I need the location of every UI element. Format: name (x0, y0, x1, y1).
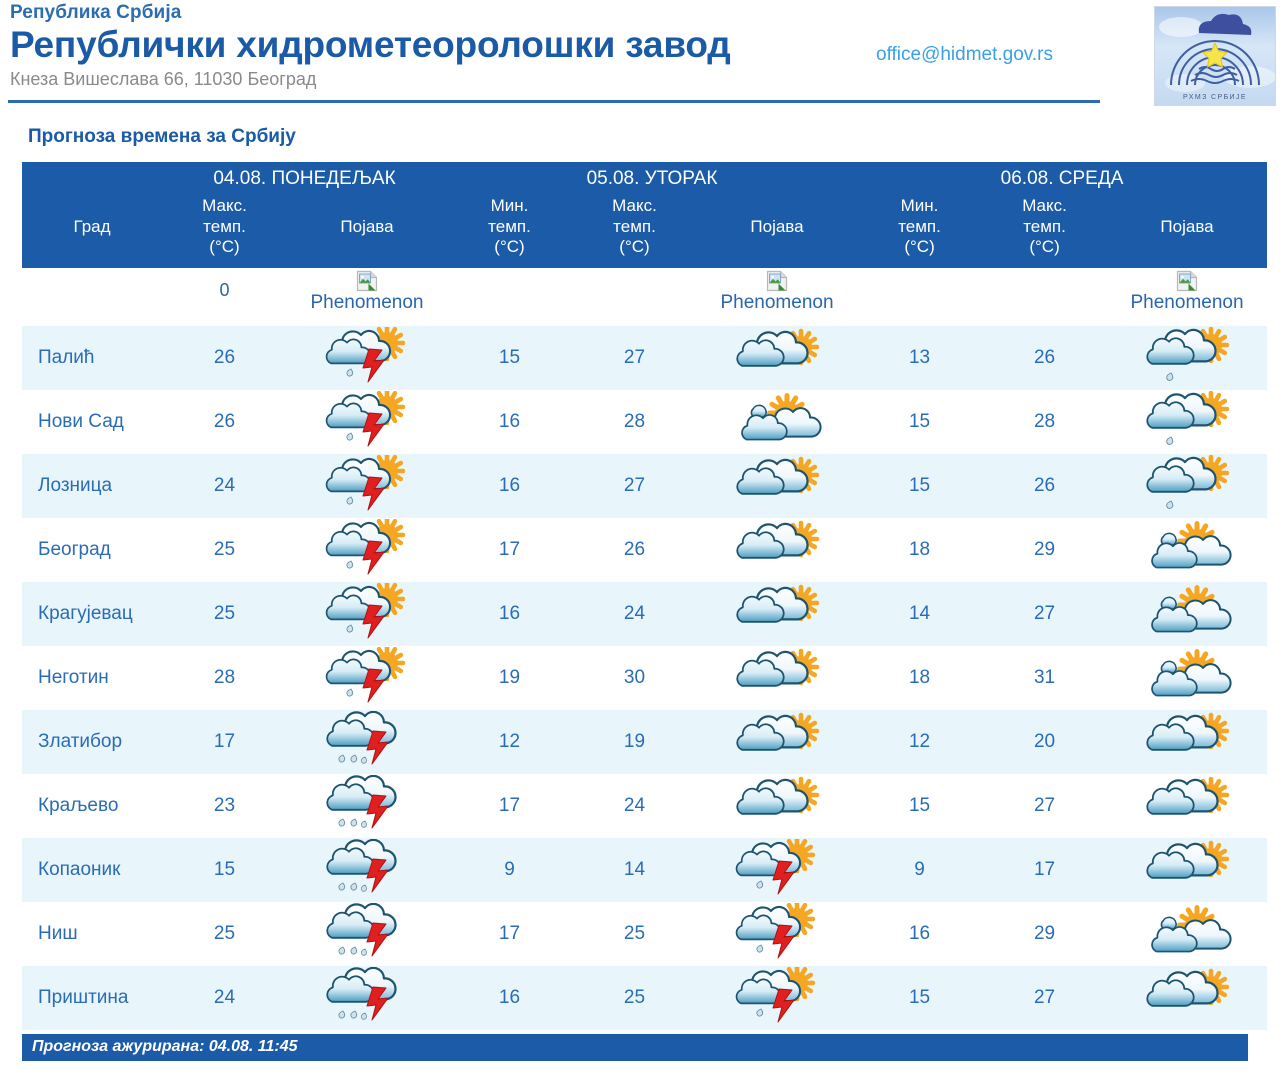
wed-min-temp: 9 (857, 838, 982, 902)
mon-weather-icon-storm-rain (287, 838, 447, 902)
city-name: Палић (22, 326, 162, 390)
city-name: Лозница (22, 454, 162, 518)
wed-min-temp: 14 (857, 582, 982, 646)
table-row: Нови Сад26 1628 1528 (22, 390, 1267, 454)
zero-value: 0 (162, 268, 287, 301)
wed-max-temp: 31 (982, 646, 1107, 710)
wed-min-temp: 12 (857, 710, 982, 774)
masthead: Република Србија Републички хидрометеоро… (0, 0, 1288, 112)
day-header-tuesday: 05.08. УТОРАК (447, 162, 857, 192)
city-name: Краљево (22, 774, 162, 838)
day-header-row: 04.08. ПОНЕДЕЉАК 05.08. УТОРАК 06.08. СР… (22, 162, 1267, 192)
mon-max-temp: 23 (162, 774, 287, 838)
tue-min-temp: 12 (447, 710, 572, 774)
tue-max-temp: 24 (572, 582, 697, 646)
city-name: Златибор (22, 710, 162, 774)
mon-weather-icon-storm-rain (287, 774, 447, 838)
tue-min-temp: 17 (447, 902, 572, 966)
country-name: Република Србија (10, 2, 731, 24)
tue-min-temp: 17 (447, 774, 572, 838)
mon-max-temp: 26 (162, 390, 287, 454)
tue-min-temp: 9 (447, 838, 572, 902)
table-row: Приштина24 1625 1527 (22, 966, 1267, 1030)
wed-max-temp: 20 (982, 710, 1107, 774)
table-row: Златибор17 1219 1220 (22, 710, 1267, 774)
wed-weather-icon-partly-cloudy (1107, 838, 1267, 902)
table-row: Ниш25 1725 1629 (22, 902, 1267, 966)
wed-max-temp: 27 (982, 966, 1107, 1030)
city-name: Приштина (22, 966, 162, 1030)
city-name: Нови Сад (22, 390, 162, 454)
wed-weather-icon-light-rain-sun (1107, 390, 1267, 454)
org-identity: Република Србија Републички хидрометеоро… (10, 2, 731, 90)
tue-weather-icon-storm-sun (697, 966, 857, 1030)
column-header-tue-min: Мин. темп. (°C) (447, 192, 572, 268)
wed-weather-icon-light-rain-sun (1107, 326, 1267, 390)
tue-weather-icon-partly-cloudy (697, 582, 857, 646)
broken-image-icon (356, 270, 378, 292)
wed-min-temp: 15 (857, 390, 982, 454)
city-name: Копаоник (22, 838, 162, 902)
legend-phenomenon-wed: Phenomenon (1107, 268, 1267, 326)
legend-spacer-tue-max (572, 268, 697, 326)
tue-max-temp: 25 (572, 966, 697, 1030)
tue-weather-icon-partly-cloudy (697, 326, 857, 390)
column-header-row: Град Макс. темп. (°C) Појава Мин. темп. … (22, 192, 1267, 268)
wed-weather-icon-sun-clouds (1107, 582, 1267, 646)
tue-weather-icon-storm-sun (697, 902, 857, 966)
label-max-l2: темп. (613, 217, 656, 236)
table-row: Крагујевац25 1624 1427 (22, 582, 1267, 646)
table-row: Копаоник15 914 917 (22, 838, 1267, 902)
wed-max-temp: 29 (982, 902, 1107, 966)
tue-max-temp: 26 (572, 518, 697, 582)
wed-min-temp: 18 (857, 518, 982, 582)
tue-weather-icon-partly-cloudy (697, 518, 857, 582)
label-max-l2: темп. (203, 217, 246, 236)
tue-min-temp: 19 (447, 646, 572, 710)
column-header-city: Град (22, 192, 162, 268)
forecast-updated-footer: Прогноза ажурирана: 04.08. 11:45 (22, 1034, 1248, 1061)
wed-max-temp: 17 (982, 838, 1107, 902)
table-row: Београд25 1726 1829 (22, 518, 1267, 582)
table-row: Краљево23 1724 1527 (22, 774, 1267, 838)
wed-max-temp: 27 (982, 582, 1107, 646)
mon-max-temp: 24 (162, 966, 287, 1030)
legend-spacer (22, 268, 162, 326)
tue-weather-icon-partly-cloudy (697, 710, 857, 774)
mon-weather-icon-storm-sun (287, 518, 447, 582)
column-header-mon-max: Макс. темп. (°C) (162, 192, 287, 268)
city-name: Крагујевац (22, 582, 162, 646)
institute-address: Кнеза Вишеслава 66, 11030 Београд (10, 69, 731, 90)
column-header-wed-max: Макс. темп. (°C) (982, 192, 1107, 268)
legend-spacer-tue-min (447, 268, 572, 326)
label-max-l2: темп. (1023, 217, 1066, 236)
wed-weather-icon-sun-clouds (1107, 518, 1267, 582)
wed-max-temp: 26 (982, 326, 1107, 390)
mon-weather-icon-storm-sun (287, 326, 447, 390)
label-max-l3: (°C) (209, 237, 239, 256)
hidmet-logo: РХМЗ СРБИЈЕ (1154, 6, 1276, 106)
mon-max-temp: 28 (162, 646, 287, 710)
wed-weather-icon-partly-cloudy (1107, 710, 1267, 774)
broken-image-icon (1176, 270, 1198, 292)
table-row: Неготин28 1930 1831 (22, 646, 1267, 710)
mon-max-temp: 24 (162, 454, 287, 518)
tue-weather-icon-partly-cloudy (697, 774, 857, 838)
tue-min-temp: 15 (447, 326, 572, 390)
mon-weather-icon-storm-sun (287, 582, 447, 646)
mon-max-temp: 25 (162, 518, 287, 582)
tue-min-temp: 17 (447, 518, 572, 582)
day-header-spacer (22, 162, 162, 192)
label-min-l3: (°C) (904, 237, 934, 256)
wed-weather-icon-light-rain-sun (1107, 454, 1267, 518)
column-header-wed-phenomenon: Појава (1107, 192, 1267, 268)
tue-max-temp: 25 (572, 902, 697, 966)
column-header-tue-phenomenon: Појава (697, 192, 857, 268)
tue-max-temp: 14 (572, 838, 697, 902)
mon-max-temp: 25 (162, 902, 287, 966)
logo-emblem-icon: РХМЗ СРБИЈЕ (1155, 7, 1275, 105)
wed-max-temp: 26 (982, 454, 1107, 518)
tue-max-temp: 27 (572, 326, 697, 390)
phenomenon-alt-text: Phenomenon (697, 293, 857, 312)
phenomenon-legend-row: 0 Phenomenon (22, 268, 1267, 326)
mon-max-temp: 25 (162, 582, 287, 646)
label-min-l1: Мин. (901, 196, 939, 215)
label-max-l1: Макс. (612, 196, 657, 215)
phenomenon-alt-text: Phenomenon (287, 293, 447, 312)
mon-max-temp: 26 (162, 326, 287, 390)
wed-weather-icon-partly-cloudy (1107, 966, 1267, 1030)
table-row: Палић26 1527 1326 (22, 326, 1267, 390)
city-name: Београд (22, 518, 162, 582)
label-max-l3: (°C) (1029, 237, 1059, 256)
wed-min-temp: 16 (857, 902, 982, 966)
tue-max-temp: 27 (572, 454, 697, 518)
tue-min-temp: 16 (447, 454, 572, 518)
phenomenon-alt-text: Phenomenon (1107, 293, 1267, 312)
mon-weather-icon-storm-rain (287, 710, 447, 774)
logo-caption: РХМЗ СРБИЈЕ (1183, 94, 1247, 101)
tue-min-temp: 16 (447, 966, 572, 1030)
forecast-rows: Палић26 1527 1326 Нови Сад26 162 (22, 326, 1267, 1030)
wed-max-temp: 27 (982, 774, 1107, 838)
wed-min-temp: 15 (857, 454, 982, 518)
city-name: Ниш (22, 902, 162, 966)
contact-email[interactable]: office@hidmet.gov.rs (876, 44, 1053, 66)
label-min-l2: темп. (488, 217, 531, 236)
table-head: 04.08. ПОНЕДЕЉАК 05.08. УТОРАК 06.08. СР… (22, 162, 1267, 326)
tue-weather-icon-partly-cloudy (697, 646, 857, 710)
tue-max-temp: 28 (572, 390, 697, 454)
city-name: Неготин (22, 646, 162, 710)
wed-min-temp: 13 (857, 326, 982, 390)
label-max-l3: (°C) (619, 237, 649, 256)
wed-max-temp: 29 (982, 518, 1107, 582)
tue-min-temp: 16 (447, 390, 572, 454)
label-max-l1: Макс. (202, 196, 247, 215)
tue-max-temp: 19 (572, 710, 697, 774)
wed-min-temp: 18 (857, 646, 982, 710)
wed-min-temp: 15 (857, 774, 982, 838)
legend-phenomenon-mon: Phenomenon (287, 268, 447, 326)
wed-max-temp: 28 (982, 390, 1107, 454)
forecast-table-wrapper: 04.08. ПОНЕДЕЉАК 05.08. УТОРАК 06.08. СР… (22, 162, 1248, 1030)
mon-weather-icon-storm-rain (287, 902, 447, 966)
mon-max-temp: 17 (162, 710, 287, 774)
broken-image-icon (766, 270, 788, 292)
wed-weather-icon-sun-clouds (1107, 646, 1267, 710)
column-header-wed-min: Мин. темп. (°C) (857, 192, 982, 268)
legend-spacer-wed-max (982, 268, 1107, 326)
mon-max-temp: 15 (162, 838, 287, 902)
wed-weather-icon-sun-clouds (1107, 902, 1267, 966)
wed-min-temp: 15 (857, 966, 982, 1030)
label-max-l1: Макс. (1022, 196, 1067, 215)
day-header-monday: 04.08. ПОНЕДЕЉАК (162, 162, 447, 192)
label-min-l1: Мин. (491, 196, 529, 215)
mon-weather-icon-storm-sun (287, 390, 447, 454)
mon-weather-icon-storm-sun (287, 646, 447, 710)
forecast-table: 04.08. ПОНЕДЕЉАК 05.08. УТОРАК 06.08. СР… (22, 162, 1267, 1030)
column-header-tue-max: Макс. темп. (°C) (572, 192, 697, 268)
legend-spacer-wed-min (857, 268, 982, 326)
header-divider (8, 100, 1100, 103)
mon-weather-icon-storm-sun (287, 454, 447, 518)
tue-max-temp: 30 (572, 646, 697, 710)
mon-weather-icon-storm-rain (287, 966, 447, 1030)
column-header-mon-phenomenon: Појава (287, 192, 447, 268)
tue-min-temp: 16 (447, 582, 572, 646)
wed-weather-icon-partly-cloudy (1107, 774, 1267, 838)
label-min-l2: темп. (898, 217, 941, 236)
page-title: Прогноза времена за Србију (28, 126, 1288, 148)
label-min-l3: (°C) (494, 237, 524, 256)
tue-max-temp: 24 (572, 774, 697, 838)
day-header-wednesday: 06.08. СРЕДА (857, 162, 1267, 192)
legend-phenomenon-tue: Phenomenon (697, 268, 857, 326)
tue-weather-icon-storm-sun (697, 838, 857, 902)
institute-name: Републички хидрометеоролошки завод (10, 25, 731, 65)
table-row: Лозница24 1627 1526 (22, 454, 1267, 518)
legend-zero-value: 0 (162, 268, 287, 326)
tue-weather-icon-sun-clouds (697, 390, 857, 454)
tue-weather-icon-partly-cloudy (697, 454, 857, 518)
